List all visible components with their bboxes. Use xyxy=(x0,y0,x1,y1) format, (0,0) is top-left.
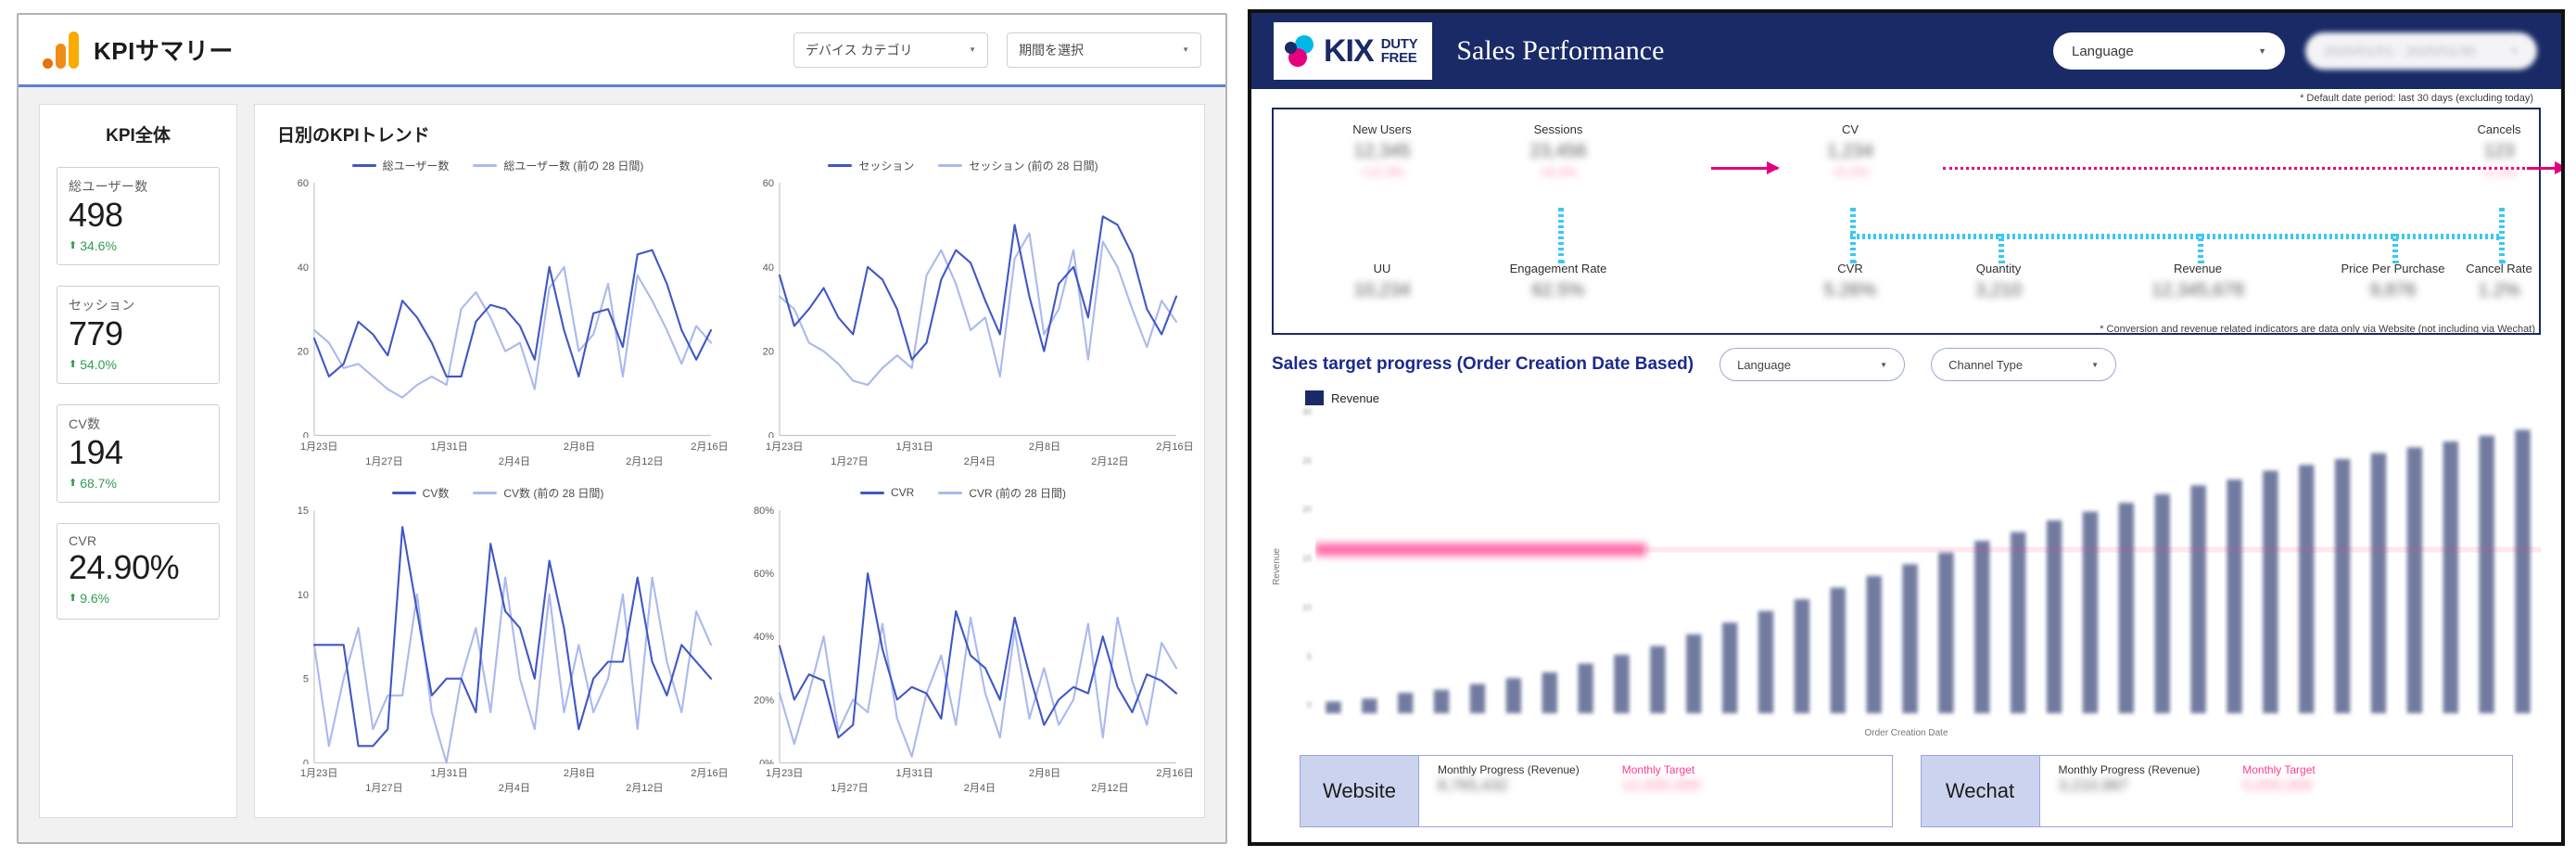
kix-logo-free: FREE xyxy=(1381,51,1418,65)
bar-chart-y-tick-label: 20 xyxy=(1302,505,1312,514)
bar-chart-y-tick-label: 10 xyxy=(1302,603,1312,612)
chevron-down-icon: ▼ xyxy=(2510,46,2519,56)
svg-text:0%: 0% xyxy=(759,758,774,764)
kpi-tile-total-users[interactable]: 総ユーザー数 498 ⬆ 34.6% xyxy=(57,167,220,265)
chart-x-axis: 1月23日1月27日1月31日2月4日2月8日2月12日2月16日 xyxy=(277,439,718,470)
legend-swatch-icon xyxy=(473,492,497,494)
legend-swatch-icon xyxy=(860,492,884,494)
legend-item-current: セッション xyxy=(828,158,914,173)
funnel-metric-revenue[interactable]: Revenue 12,345,678 xyxy=(2128,262,2267,302)
legend-label: 総ユーザー数 xyxy=(383,158,450,173)
legend-swatch-icon xyxy=(828,164,852,167)
channel-monthly-progress-label: Monthly Progress (Revenue) xyxy=(1438,763,1580,776)
svg-text:40: 40 xyxy=(298,262,309,274)
arrow-up-icon: ⬆ xyxy=(69,592,77,604)
funnel-metric-label: Engagement Rate xyxy=(1489,262,1628,275)
kpi-summary-panel: KPIサマリー デバイス カテゴリ ▼ 期間を選択 ▼ KPI全体 xyxy=(0,0,1242,857)
sales-target-title: Sales target progress (Order Creation Da… xyxy=(1272,354,1694,375)
svg-text:0: 0 xyxy=(768,431,774,438)
funnel-metric-new-users[interactable]: New Users 12,345 +12.3% xyxy=(1313,122,1452,181)
channel-summary-cards: Website Monthly Progress (Revenue) 8,765… xyxy=(1272,751,2541,829)
funnel-metric-delta: -2.1% xyxy=(2430,163,2565,181)
funnel-connector-cancels xyxy=(2499,208,2505,263)
chart-x-tick-label: 1月31日 xyxy=(430,439,467,454)
funnel-metric-label: New Users xyxy=(1313,122,1452,136)
sales-performance-header: KIX DUTY FREE Sales Performance Language… xyxy=(1251,13,2561,89)
legend-swatch-icon xyxy=(1305,390,1324,405)
sales-performance-window: KIX DUTY FREE Sales Performance Language… xyxy=(1248,9,2565,846)
legend-swatch-icon xyxy=(938,492,962,494)
kpi-overall-title: KPI全体 xyxy=(106,122,171,147)
kpi-tile-delta-value: 54.0% xyxy=(80,357,117,372)
chart-x-axis: 1月23日1月27日1月31日2月4日2月8日2月12日2月16日 xyxy=(277,765,718,797)
kpi-tile-label: CV数 xyxy=(69,415,208,433)
funnel-connector-quantity xyxy=(1999,234,2004,263)
channel-monthly-target-label: Monthly Target xyxy=(1622,763,1761,776)
funnel-metric-value: 10,234 xyxy=(1313,279,1452,302)
page-title: KPIサマリー xyxy=(94,32,234,67)
sales-target-section: Sales target progress (Order Creation Da… xyxy=(1272,348,2541,738)
funnel-metric-value: 62.5% xyxy=(1489,279,1628,302)
chart-x-tick-label: 2月16日 xyxy=(691,439,728,454)
header-control-group: Language ▼ 2025/01/01 - 2025/01/30 ▼ xyxy=(2053,32,2561,70)
chart-total-users[interactable]: 総ユーザー数 総ユーザー数 (前の 28 日間) 0204060 1月23日1月… xyxy=(277,158,718,470)
funnel-metric-value: 23,456 xyxy=(1489,140,1628,163)
kpi-tile-value: 779 xyxy=(69,316,208,352)
chart-plot-area: 0%20%40%60%80% xyxy=(742,505,1184,765)
chart-x-tick-label: 2月8日 xyxy=(1029,439,1060,454)
kpi-tile-value: 194 xyxy=(69,435,208,471)
kpi-tile-sessions[interactable]: セッション 779 ⬆ 54.0% xyxy=(57,286,220,384)
bar-chart-y-tick-label: 15 xyxy=(1302,554,1312,563)
kix-mark-icon xyxy=(1285,35,1316,67)
dashboard-screenshot: KPIサマリー デバイス カテゴリ ▼ 期間を選択 ▼ KPI全体 xyxy=(0,0,2576,857)
channel-card-name: Website xyxy=(1301,756,1419,826)
kpi-tile-value: 24.90% xyxy=(69,550,208,586)
funnel-metric-sessions[interactable]: Sessions 23,456 +8.4% xyxy=(1489,122,1628,181)
trend-chart-grid: 総ユーザー数 総ユーザー数 (前の 28 日間) 0204060 1月23日1月… xyxy=(277,158,1184,797)
svg-text:60: 60 xyxy=(298,178,309,189)
legend-label: セッション (前の 28 日間) xyxy=(969,158,1098,173)
legend-item-previous: CV数 (前の 28 日間) xyxy=(473,485,603,501)
channel-type-select[interactable]: Channel Type ▼ xyxy=(1931,348,2116,381)
chart-x-tick-label: 2月8日 xyxy=(564,439,595,454)
funnel-connector-cv-horizontal xyxy=(1850,234,2499,239)
chevron-down-icon: ▼ xyxy=(2258,46,2266,56)
funnel-metric-value: 1.2% xyxy=(2430,279,2565,302)
chart-cv[interactable]: CV数 CV数 (前の 28 日間) 051015 1月23日1月27日1月31… xyxy=(277,485,718,798)
chart-x-tick-label: 2月16日 xyxy=(1156,765,1193,780)
chart-legend: CV数 CV数 (前の 28 日間) xyxy=(277,485,718,501)
chart-x-axis: 1月23日1月27日1月31日2月4日2月8日2月12日2月16日 xyxy=(742,439,1184,470)
chart-x-tick-label: 2月8日 xyxy=(1029,765,1060,780)
revenue-legend-label: Revenue xyxy=(1331,391,1379,405)
funnel-metric-value: 3,210 xyxy=(1929,279,2068,302)
funnel-metric-label: CVR xyxy=(1781,262,1920,275)
channel-monthly-progress: Monthly Progress (Revenue) 8,765,432 xyxy=(1438,763,1580,797)
channel-monthly-target: Monthly Target 12,000,000 xyxy=(1622,763,1761,797)
channel-monthly-target-value: 5,000,000 xyxy=(2242,776,2381,797)
channel-card-metrics: Monthly Progress (Revenue) 3,210,987 Mon… xyxy=(2040,756,2513,826)
channel-monthly-progress-value: 3,210,987 xyxy=(2059,776,2201,797)
legend-label: セッション xyxy=(858,158,914,173)
funnel-metric-label: Revenue xyxy=(2128,262,2267,275)
kpi-tile-delta: ⬆ 54.0% xyxy=(69,357,208,372)
date-period-select-label: 2025/01/01 - 2025/01/30 xyxy=(2324,44,2475,59)
bar-chart-y-tick-label: 30 xyxy=(1302,407,1312,416)
revenue-legend: Revenue xyxy=(1305,390,2541,405)
funnel-metric-value: 1,234 xyxy=(1781,140,1920,163)
kpi-tile-delta: ⬆ 68.7% xyxy=(69,476,208,491)
funnel-metric-delta: +5.2% xyxy=(1781,163,1920,181)
kpi-filter-group: デバイス カテゴリ ▼ 期間を選択 ▼ xyxy=(793,32,1201,68)
funnel-footnote: * Conversion and revenue related indicat… xyxy=(2100,324,2535,335)
kpi-tile-label: CVR xyxy=(69,533,208,548)
funnel-metric-label: Quantity xyxy=(1929,262,2068,275)
arrow-up-icon: ⬆ xyxy=(69,358,77,370)
chevron-down-icon: ▼ xyxy=(969,45,976,54)
chart-x-tick-label: 1月23日 xyxy=(766,439,803,454)
funnel-metric-value: 5.26% xyxy=(1781,279,1920,302)
funnel-metric-cvr[interactable]: CVR 5.26% xyxy=(1781,262,1920,302)
chart-legend: セッション セッション (前の 28 日間) xyxy=(742,158,1184,173)
funnel-metric-label: Cancels xyxy=(2430,122,2565,136)
kpi-summary-body: KPI全体 総ユーザー数 498 ⬆ 34.6% セッション 7 xyxy=(19,87,1225,842)
legend-label: CVR xyxy=(891,486,914,499)
funnel-connector-sessions xyxy=(1558,208,1564,263)
kpi-summary-window: KPIサマリー デバイス カテゴリ ▼ 期間を選択 ▼ KPI全体 xyxy=(17,13,1227,844)
sales-performance-panel: KIX DUTY FREE Sales Performance Language… xyxy=(1242,0,2576,857)
funnel-metric-label: Cancel Rate xyxy=(2430,262,2565,275)
google-analytics-icon xyxy=(43,32,79,69)
legend-label: CV数 (前の 28 日間) xyxy=(503,485,603,501)
chart-x-tick-label: 2月4日 xyxy=(499,780,530,795)
funnel-metric-label: Sessions xyxy=(1489,122,1628,136)
arrow-up-icon: ⬆ xyxy=(69,477,77,489)
channel-card-wechat[interactable]: Wechat Monthly Progress (Revenue) 3,210,… xyxy=(1921,755,2514,827)
funnel-metric-cv[interactable]: CV 1,234 +5.2% xyxy=(1781,122,1920,181)
chart-x-tick-label: 2月16日 xyxy=(691,765,728,780)
legend-item-previous: セッション (前の 28 日間) xyxy=(938,158,1098,173)
bar-chart-plot-area xyxy=(1315,407,2541,726)
kpi-tile-delta-value: 68.7% xyxy=(80,476,117,491)
chart-x-tick-label: 2月12日 xyxy=(626,780,663,795)
svg-text:40%: 40% xyxy=(754,632,774,643)
chart-x-tick-label: 2月8日 xyxy=(564,765,595,780)
funnel-metric-cancel-rate[interactable]: Cancel Rate 1.2% xyxy=(2430,262,2565,302)
daily-kpi-trend-title: 日別のKPIトレンド xyxy=(277,122,1184,147)
chart-x-tick-label: 2月4日 xyxy=(964,454,996,468)
channel-card-website[interactable]: Website Monthly Progress (Revenue) 8,765… xyxy=(1300,755,1893,827)
funnel-metrics-grid: New Users 12,345 +12.3% Sessions 23,456 … xyxy=(1294,122,2519,327)
kpi-tile-delta-value: 34.6% xyxy=(80,238,117,253)
date-period-select[interactable]: 2025/01/01 - 2025/01/30 ▼ xyxy=(2305,32,2537,70)
kpi-tile-delta-value: 9.6% xyxy=(80,591,109,606)
legend-label: CV数 xyxy=(423,485,450,501)
chart-x-tick-label: 2月16日 xyxy=(1156,439,1193,454)
svg-text:0: 0 xyxy=(303,758,309,764)
chart-x-tick-label: 1月23日 xyxy=(300,439,337,454)
channel-type-select-label: Channel Type xyxy=(1948,358,2023,372)
channel-monthly-target: Monthly Target 5,000,000 xyxy=(2242,763,2381,797)
chevron-down-icon: ▼ xyxy=(1182,45,1189,54)
language-select-label: Language xyxy=(2072,44,2134,59)
chevron-down-icon: ▼ xyxy=(1880,361,1887,369)
target-language-select-label: Language xyxy=(1737,358,1791,372)
kix-logo-duty: DUTY xyxy=(1381,37,1418,51)
kpi-tile-delta: ⬆ 9.6% xyxy=(69,591,208,606)
legend-label: 総ユーザー数 (前の 28 日間) xyxy=(503,158,643,173)
sales-performance-title: Sales Performance xyxy=(1456,35,1664,67)
kix-logo-subtext: DUTY FREE xyxy=(1381,37,1418,65)
svg-text:15: 15 xyxy=(298,505,309,516)
svg-text:60%: 60% xyxy=(754,569,774,580)
kpi-tile-cvr[interactable]: CVR 24.90% ⬆ 9.6% xyxy=(57,523,220,620)
svg-text:60: 60 xyxy=(763,178,774,189)
legend-item-previous: CVR (前の 28 日間) xyxy=(938,485,1066,501)
kpi-tile-cv[interactable]: CV数 194 ⬆ 68.7% xyxy=(57,404,220,503)
chart-plot-area: 0204060 xyxy=(742,177,1184,438)
channel-monthly-target-value: 12,000,000 xyxy=(1622,776,1761,797)
chart-plot-area: 051015 xyxy=(277,505,718,765)
chart-x-tick-label: 1月27日 xyxy=(365,454,402,468)
bar-chart-y-tick-label: 25 xyxy=(1302,456,1312,466)
target-language-select[interactable]: Language ▼ xyxy=(1719,348,1905,381)
legend-swatch-icon xyxy=(938,164,962,167)
funnel-metrics-box: New Users 12,345 +12.3% Sessions 23,456 … xyxy=(1272,108,2541,335)
default-date-note: * Default date period: last 30 days (exc… xyxy=(1251,89,2561,104)
kpi-tile-value: 498 xyxy=(69,198,208,234)
svg-text:20: 20 xyxy=(298,347,309,358)
bar-chart-x-axis-label: Order Creation Date xyxy=(1272,728,2541,738)
svg-text:0: 0 xyxy=(303,431,309,438)
bar-chart-y-tick-label: 0 xyxy=(1307,700,1312,710)
svg-text:10: 10 xyxy=(298,589,309,600)
device-category-select-label: デバイス カテゴリ xyxy=(806,41,912,59)
chart-legend: CVR CVR (前の 28 日間) xyxy=(742,485,1184,501)
svg-text:20%: 20% xyxy=(754,695,774,706)
chart-legend: 総ユーザー数 総ユーザー数 (前の 28 日間) xyxy=(277,158,718,173)
bar-chart-y-axis-label: Revenue xyxy=(1272,548,1282,585)
legend-item-current: CVR xyxy=(860,485,914,501)
kix-logo-text: KIX xyxy=(1324,33,1374,70)
chart-x-tick-label: 1月31日 xyxy=(895,765,933,780)
chart-x-tick-label: 2月12日 xyxy=(1091,780,1128,795)
chart-x-axis: 1月23日1月27日1月31日2月4日2月8日2月12日2月16日 xyxy=(742,765,1184,797)
chevron-down-icon: ▼ xyxy=(2091,361,2099,369)
chart-x-tick-label: 2月4日 xyxy=(499,454,530,468)
svg-text:20: 20 xyxy=(763,347,774,358)
chart-x-tick-label: 1月23日 xyxy=(300,765,337,780)
sales-target-chart[interactable]: Revenue 302520151050 xyxy=(1272,407,2541,726)
funnel-metric-label: UU xyxy=(1313,262,1452,275)
chart-x-tick-label: 1月31日 xyxy=(895,439,933,454)
funnel-connector-price xyxy=(2392,234,2398,263)
chart-sessions[interactable]: セッション セッション (前の 28 日間) 0204060 1月23日1月27… xyxy=(742,158,1184,470)
channel-monthly-progress-label: Monthly Progress (Revenue) xyxy=(2059,763,2201,776)
channel-card-name: Wechat xyxy=(1922,756,2040,826)
chart-x-tick-label: 2月4日 xyxy=(964,780,996,795)
chart-x-tick-label: 2月12日 xyxy=(1091,454,1128,468)
chart-x-tick-label: 1月27日 xyxy=(365,780,402,795)
kpi-summary-header: KPIサマリー デバイス カテゴリ ▼ 期間を選択 ▼ xyxy=(19,15,1225,87)
svg-text:40: 40 xyxy=(763,262,774,274)
legend-item-current: CV数 xyxy=(392,485,450,501)
chart-x-tick-label: 2月12日 xyxy=(626,454,663,468)
bar-chart-y-axis: 302520151050 xyxy=(1284,407,1315,726)
chart-x-tick-label: 1月23日 xyxy=(766,765,803,780)
channel-monthly-progress-value: 8,765,432 xyxy=(1438,776,1580,797)
chart-x-tick-label: 1月31日 xyxy=(430,765,467,780)
svg-text:5: 5 xyxy=(303,673,309,684)
date-range-select-label: 期間を選択 xyxy=(1019,41,1084,59)
kpi-tile-list: 総ユーザー数 498 ⬆ 34.6% セッション 779 ⬆ xyxy=(57,167,220,620)
kpi-tile-label: セッション xyxy=(69,296,208,314)
kix-duty-free-logo: KIX DUTY FREE xyxy=(1274,22,1432,80)
date-range-select[interactable]: 期間を選択 ▼ xyxy=(1007,32,1201,68)
channel-monthly-target-label: Monthly Target xyxy=(2242,763,2381,776)
funnel-connector-revenue xyxy=(2198,234,2203,263)
bar-chart-y-tick-label: 5 xyxy=(1307,652,1312,661)
language-select[interactable]: Language ▼ xyxy=(2053,32,2285,70)
legend-item-current: 総ユーザー数 xyxy=(352,158,450,173)
funnel-metric-cancels[interactable]: Cancels 123 -2.1% xyxy=(2430,122,2565,181)
chart-cvr[interactable]: CVR CVR (前の 28 日間) 0%20%40%60%80% 1月23日1… xyxy=(742,485,1184,798)
funnel-metric-delta: +8.4% xyxy=(1489,163,1628,181)
svg-text:80%: 80% xyxy=(754,505,774,516)
kpi-tile-label: 総ユーザー数 xyxy=(69,177,208,196)
sales-target-header: Sales target progress (Order Creation Da… xyxy=(1272,348,2541,381)
kpi-tile-delta: ⬆ 34.6% xyxy=(69,238,208,253)
funnel-metric-delta: +12.3% xyxy=(1313,163,1452,181)
funnel-metric-engagement-rate[interactable]: Engagement Rate 62.5% xyxy=(1489,262,1628,302)
legend-label: CVR (前の 28 日間) xyxy=(969,485,1066,501)
funnel-metric-label: CV xyxy=(1781,122,1920,136)
legend-item-previous: 総ユーザー数 (前の 28 日間) xyxy=(473,158,643,173)
funnel-metric-quantity[interactable]: Quantity 3,210 xyxy=(1929,262,2068,302)
daily-kpi-trend-card: 日別のKPIトレンド 総ユーザー数 総ユーザー数 (前の 28 日間) xyxy=(254,104,1205,818)
funnel-metric-uu[interactable]: UU 10,234 xyxy=(1313,262,1452,302)
device-category-select[interactable]: デバイス カテゴリ ▼ xyxy=(793,32,988,68)
legend-swatch-icon xyxy=(352,164,376,167)
kpi-overall-card: KPI全体 総ユーザー数 498 ⬆ 34.6% セッション 7 xyxy=(39,104,237,818)
chart-plot-area: 0204060 xyxy=(277,177,718,438)
funnel-metric-value: 12,345 xyxy=(1313,140,1452,163)
legend-swatch-icon xyxy=(473,164,497,167)
funnel-arrow-sessions-to-cv xyxy=(1711,167,1778,170)
channel-card-metrics: Monthly Progress (Revenue) 8,765,432 Mon… xyxy=(1419,756,1892,826)
chart-x-tick-label: 1月27日 xyxy=(831,780,868,795)
arrow-up-icon: ⬆ xyxy=(69,239,77,251)
funnel-metric-value: 123 xyxy=(2430,140,2565,163)
legend-swatch-icon xyxy=(392,492,416,494)
sales-performance-body: New Users 12,345 +12.3% Sessions 23,456 … xyxy=(1251,104,2561,842)
funnel-metric-value: 12,345,678 xyxy=(2128,279,2267,302)
chart-x-tick-label: 1月27日 xyxy=(831,454,868,468)
channel-monthly-progress: Monthly Progress (Revenue) 3,210,987 xyxy=(2059,763,2201,797)
